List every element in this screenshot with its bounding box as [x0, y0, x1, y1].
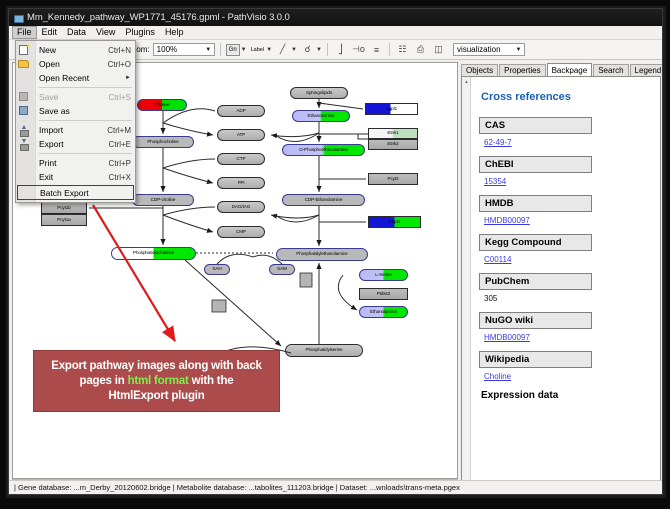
scroll-up-icon[interactable]: ▴	[462, 77, 471, 86]
xref-link[interactable]: HMDB00097	[484, 216, 530, 225]
file-menu-save-as-label: Save as	[39, 106, 131, 116]
panel-tabstrip: Objects Properties Backpage Search Legen…	[461, 62, 661, 76]
annotation-highlight: html format	[128, 375, 189, 387]
xref-name: ChEBI	[479, 156, 592, 173]
file-menu-open[interactable]: Open Ctrl+O	[16, 57, 135, 71]
sidebar-toggle-icon[interactable]: ◫	[431, 42, 446, 57]
file-menu-open-recent-label: Open Recent	[39, 73, 125, 83]
label-dropdown[interactable]: Label ▼	[250, 47, 272, 53]
file-menu-exit-label: Exit	[39, 172, 109, 182]
file-menu-new-label: New	[39, 45, 108, 55]
title-bar: Mm_Kennedy_pathway_WP1771_45176.gpml - P…	[9, 9, 662, 26]
chevron-down-icon: ▼	[291, 47, 297, 53]
distribute-icon[interactable]: ≡	[369, 42, 384, 57]
xref-name: PubChem	[479, 273, 592, 290]
zoom-value: 100%	[157, 45, 203, 54]
file-menu-dropdown[interactable]: New Ctrl+N Open Ctrl+O Open Recent ► Sav…	[15, 40, 136, 203]
annotation-line2-post: with the	[189, 375, 234, 387]
xref-link[interactable]: C00114	[484, 255, 511, 264]
interaction-dropdown[interactable]: ☌ ▼	[300, 42, 322, 57]
datanode-dropdown[interactable]: Gn ▼	[226, 44, 247, 56]
tab-backpage[interactable]: Backpage	[547, 63, 593, 77]
file-menu-export[interactable]: Export Ctrl+E	[16, 137, 135, 151]
menu-file[interactable]: File	[12, 26, 37, 39]
file-menu-export-label: Export	[39, 139, 109, 149]
import-icon	[19, 125, 28, 135]
file-menu-save-as[interactable]: Save as	[16, 104, 135, 118]
file-menu-batch-export-label: Batch Export	[40, 188, 133, 198]
chevron-down-icon: ▼	[266, 47, 272, 53]
file-menu-new-accel: Ctrl+N	[108, 46, 135, 55]
xref-name: Kegg Compound	[479, 234, 592, 251]
chevron-down-icon: ▼	[241, 47, 247, 53]
file-menu-import-label: Import	[39, 125, 107, 135]
menu-view[interactable]: View	[91, 26, 120, 39]
backpage-vscrollbar[interactable]: ▴ ▾	[462, 77, 471, 489]
file-menu-print-label: Print	[39, 158, 109, 168]
label-tool-label: Label	[250, 47, 265, 53]
tab-search[interactable]: Search	[593, 64, 628, 76]
align-top-icon[interactable]: ⎦	[333, 42, 348, 57]
file-menu-print[interactable]: Print Ctrl+P	[16, 156, 135, 170]
annotation-text: Export pathway images along with back pa…	[45, 359, 268, 404]
save-as-icon	[19, 106, 28, 115]
expression-data-title: Expression data	[481, 390, 652, 401]
chevron-right-icon: ►	[125, 75, 135, 81]
xref-value[interactable]: 62-49-7	[484, 138, 652, 147]
xref-value[interactable]: HMDB00097	[484, 333, 652, 342]
xref-value[interactable]: Choline	[484, 372, 652, 381]
backpage-content: Cross references CAS62-49-7ChEBI15354HMD…	[471, 77, 660, 489]
file-menu-import[interactable]: Import Ctrl+M	[16, 123, 135, 137]
status-text: | Gene database: ...m_Derby_20120602.bri…	[14, 483, 460, 492]
file-menu-save-accel: Ctrl+S	[109, 93, 135, 102]
xref-list: CAS62-49-7ChEBI15354HMDBHMDB00097Kegg Co…	[479, 117, 652, 381]
status-bar: | Gene database: ...m_Derby_20120602.bri…	[9, 480, 662, 494]
pathvisio-window: Mm_Kennedy_pathway_WP1771_45176.gpml - P…	[8, 8, 663, 495]
pathvisio-icon	[13, 13, 23, 23]
annotation-callout: Export pathway images along with back pa…	[33, 350, 280, 412]
menu-divider	[39, 120, 132, 121]
visualization-value: visualization	[457, 45, 513, 54]
right-panel: Objects Properties Backpage Search Legen…	[461, 62, 661, 490]
menu-data[interactable]: Data	[62, 26, 91, 39]
open-folder-icon	[18, 60, 29, 68]
menu-bar: File Edit Data View Plugins Help	[9, 26, 662, 40]
xref-value[interactable]: C00114	[484, 255, 652, 264]
toolbar-separator	[389, 43, 390, 56]
menu-divider	[39, 87, 132, 88]
file-menu-save[interactable]: Save Ctrl+S	[16, 90, 135, 104]
line-dropdown[interactable]: ╱ ▼	[275, 42, 297, 57]
xref-block-pubchem: PubChem305	[479, 273, 652, 303]
chevron-down-icon: ▼	[316, 47, 322, 53]
xref-link[interactable]: Choline	[484, 372, 511, 381]
columns-icon[interactable]: ☷	[395, 42, 410, 57]
xref-block-wikipedia: WikipediaCholine	[479, 351, 652, 381]
file-menu-batch-export[interactable]: Batch Export	[17, 185, 134, 200]
xref-block-nugo-wiki: NuGO wikiHMDB00097	[479, 312, 652, 342]
toolbar-separator	[327, 43, 328, 56]
menu-divider	[39, 153, 132, 154]
zoom-combo[interactable]: 100% ▼	[153, 43, 215, 56]
visualization-combo[interactable]: visualization ▼	[453, 43, 525, 56]
file-menu-print-accel: Ctrl+P	[109, 159, 135, 168]
menu-help[interactable]: Help	[160, 26, 189, 39]
file-menu-exit-accel: Ctrl+X	[109, 173, 135, 182]
print-icon[interactable]: ⎙	[413, 42, 428, 57]
xref-block-kegg-compound: Kegg CompoundC00114	[479, 234, 652, 264]
menu-plugins[interactable]: Plugins	[120, 26, 160, 39]
chevron-down-icon: ▼	[203, 44, 214, 55]
xref-name: CAS	[479, 117, 592, 134]
window-title: Mm_Kennedy_pathway_WP1771_45176.gpml - P…	[27, 12, 290, 23]
chevron-down-icon: ▼	[513, 44, 524, 55]
xref-link[interactable]: HMDB00097	[484, 333, 530, 342]
file-menu-open-accel: Ctrl+O	[108, 60, 135, 69]
backpage-panel: ▴ ▾ Cross references CAS62-49-7ChEBI1535…	[461, 76, 661, 490]
save-disk-icon	[19, 92, 28, 101]
xref-link[interactable]: 15354	[484, 177, 506, 186]
file-menu-open-label: Open	[39, 59, 108, 69]
xref-value: 305	[484, 294, 652, 303]
annotation-line3: HtmlExport plugin	[108, 390, 204, 402]
xref-link[interactable]: 62-49-7	[484, 138, 512, 147]
xref-value[interactable]: 15354	[484, 177, 652, 186]
annotation-line2-pre: pages in	[80, 375, 128, 387]
line-icon: ╱	[275, 42, 290, 57]
align-left-icon[interactable]: ⊣o	[351, 42, 366, 57]
file-menu-new[interactable]: New Ctrl+N	[16, 43, 135, 57]
new-document-icon	[19, 45, 28, 55]
xref-name: Wikipedia	[479, 351, 592, 368]
tab-legend[interactable]: Legend	[630, 64, 663, 76]
menu-edit[interactable]: Edit	[37, 26, 63, 39]
file-menu-import-accel: Ctrl+M	[107, 126, 135, 135]
xref-block-chebi: ChEBI15354	[479, 156, 652, 186]
xref-name: NuGO wiki	[479, 312, 592, 329]
interaction-icon: ☌	[300, 42, 315, 57]
xref-value[interactable]: HMDB00097	[484, 216, 652, 225]
xref-block-hmdb: HMDBHMDB00097	[479, 195, 652, 225]
tab-objects[interactable]: Objects	[461, 64, 498, 76]
file-menu-exit[interactable]: Exit Ctrl+X	[16, 170, 135, 184]
file-menu-save-label: Save	[39, 92, 109, 102]
cross-references-title: Cross references	[481, 91, 652, 103]
toolbar-separator	[220, 43, 221, 56]
screenshot-root: Mm_Kennedy_pathway_WP1771_45176.gpml - P…	[0, 0, 670, 509]
file-menu-export-accel: Ctrl+E	[109, 140, 135, 149]
tab-properties[interactable]: Properties	[499, 64, 545, 76]
geneproduct-icon: Gn	[226, 44, 240, 56]
xref-name: HMDB	[479, 195, 592, 212]
xref-block-cas: CAS62-49-7	[479, 117, 652, 147]
export-icon	[19, 139, 28, 149]
annotation-line1: Export pathway images along with back	[51, 360, 262, 372]
file-menu-open-recent[interactable]: Open Recent ►	[16, 71, 135, 85]
